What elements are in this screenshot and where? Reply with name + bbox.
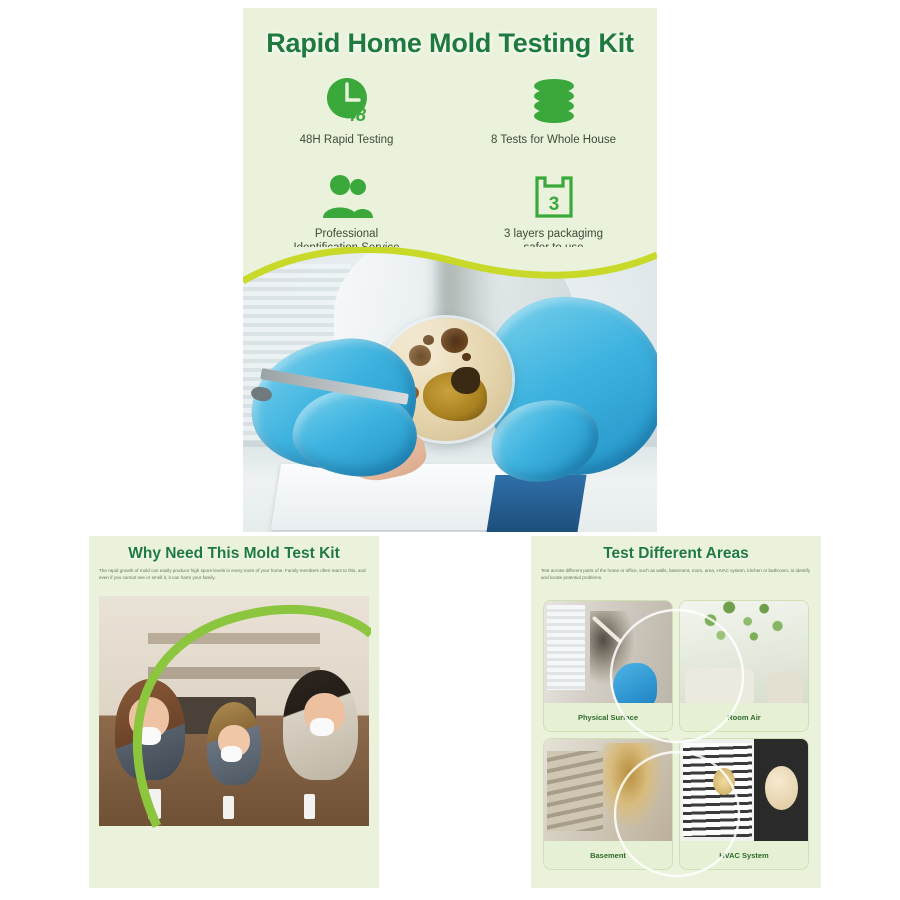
left-panel-title: Why Need This Mold Test Kit (89, 545, 379, 563)
clipboard-edge (487, 475, 587, 532)
feature-row-top: 48 48H Rapid Testing 8 Tests (243, 70, 657, 148)
area-room-air: Room Air (679, 600, 809, 732)
tissue (137, 727, 161, 745)
area-hvac-system: HVAC System (679, 738, 809, 870)
family-photo (99, 596, 369, 826)
test-areas-panel: Test Different Areas Test across differe… (531, 536, 821, 888)
feature-label: 48H Rapid Testing (300, 133, 394, 148)
area-label: Basement (544, 841, 672, 869)
living-room-art (680, 601, 808, 705)
petri-dish-stack-icon (528, 70, 580, 126)
medicine-bottle (148, 789, 162, 819)
area-image (680, 601, 808, 705)
water-damage-stain (603, 743, 662, 828)
kitchen-shelf (148, 633, 321, 645)
packaging-box-3-icon: 3 (529, 164, 579, 220)
armchair (767, 672, 803, 703)
mold-spot (409, 345, 432, 366)
hvac-art (680, 739, 808, 843)
area-image (544, 601, 672, 705)
area-basement: Basement (543, 738, 673, 870)
product-listing-collage: Rapid Home Mold Testing Kit 48 48H Rapid… (0, 0, 900, 900)
svg-text:3: 3 (548, 194, 559, 215)
area-grid: Physical Surface Room Air (543, 600, 809, 876)
svg-text:48: 48 (344, 105, 365, 125)
hero-photo (243, 247, 657, 532)
area-row-top: Physical Surface Room Air (543, 600, 809, 732)
clock-48-icon: 48 (319, 70, 375, 126)
feature-three-layer-packaging: 3 3 layers packagimgsafer to use (450, 164, 657, 256)
kitchen-shelf (148, 667, 321, 679)
feature-eight-tests: 8 Tests for Whole House (450, 70, 657, 148)
test-disc (765, 766, 798, 810)
sofa (685, 668, 754, 703)
mold-spot (441, 328, 469, 353)
area-image (544, 739, 672, 843)
area-label: HVAC System (680, 841, 808, 869)
moldy-wall-art (544, 601, 672, 705)
blue-glove (613, 663, 657, 705)
tissue (221, 746, 243, 762)
mold-spot (423, 335, 434, 345)
right-panel-body: Test across different parts of the home … (541, 568, 811, 582)
area-label: Room Air (680, 703, 808, 731)
people-group-icon (319, 164, 375, 220)
wave-divider (243, 247, 657, 311)
stairs (547, 751, 603, 830)
right-panel-title: Test Different Areas (531, 545, 821, 563)
test-disc (713, 768, 735, 795)
area-image (680, 739, 808, 843)
medicine-bottle (304, 794, 315, 819)
page-title: Rapid Home Mold Testing Kit (243, 28, 657, 59)
area-label: Physical Surface (544, 703, 672, 731)
area-physical-surface: Physical Surface (543, 600, 673, 732)
mold-colony (423, 372, 487, 421)
area-row-bottom: Basement HVAC System (543, 738, 809, 870)
feature-label: 8 Tests for Whole House (491, 133, 616, 148)
feature-rapid-testing: 48 48H Rapid Testing (243, 70, 450, 148)
left-panel-body: The rapid growth of mold can easily prod… (99, 568, 369, 582)
mold-colony-dark (451, 367, 480, 394)
feature-grid: 48 48H Rapid Testing 8 Tests (243, 70, 657, 256)
hero-panel: Rapid Home Mold Testing Kit 48 48H Rapid… (243, 8, 657, 532)
why-need-panel: Why Need This Mold Test Kit The rapid gr… (89, 536, 379, 888)
feature-professional-id: ProfessionalIdentification Service (243, 164, 450, 256)
window (547, 605, 585, 690)
basement-art (544, 739, 672, 843)
feature-row-bottom: ProfessionalIdentification Service 3 3 l… (243, 164, 657, 256)
plant-foliage (690, 601, 792, 655)
tissue (310, 718, 334, 736)
mold-spot (462, 353, 471, 362)
medicine-bottle (223, 796, 234, 819)
